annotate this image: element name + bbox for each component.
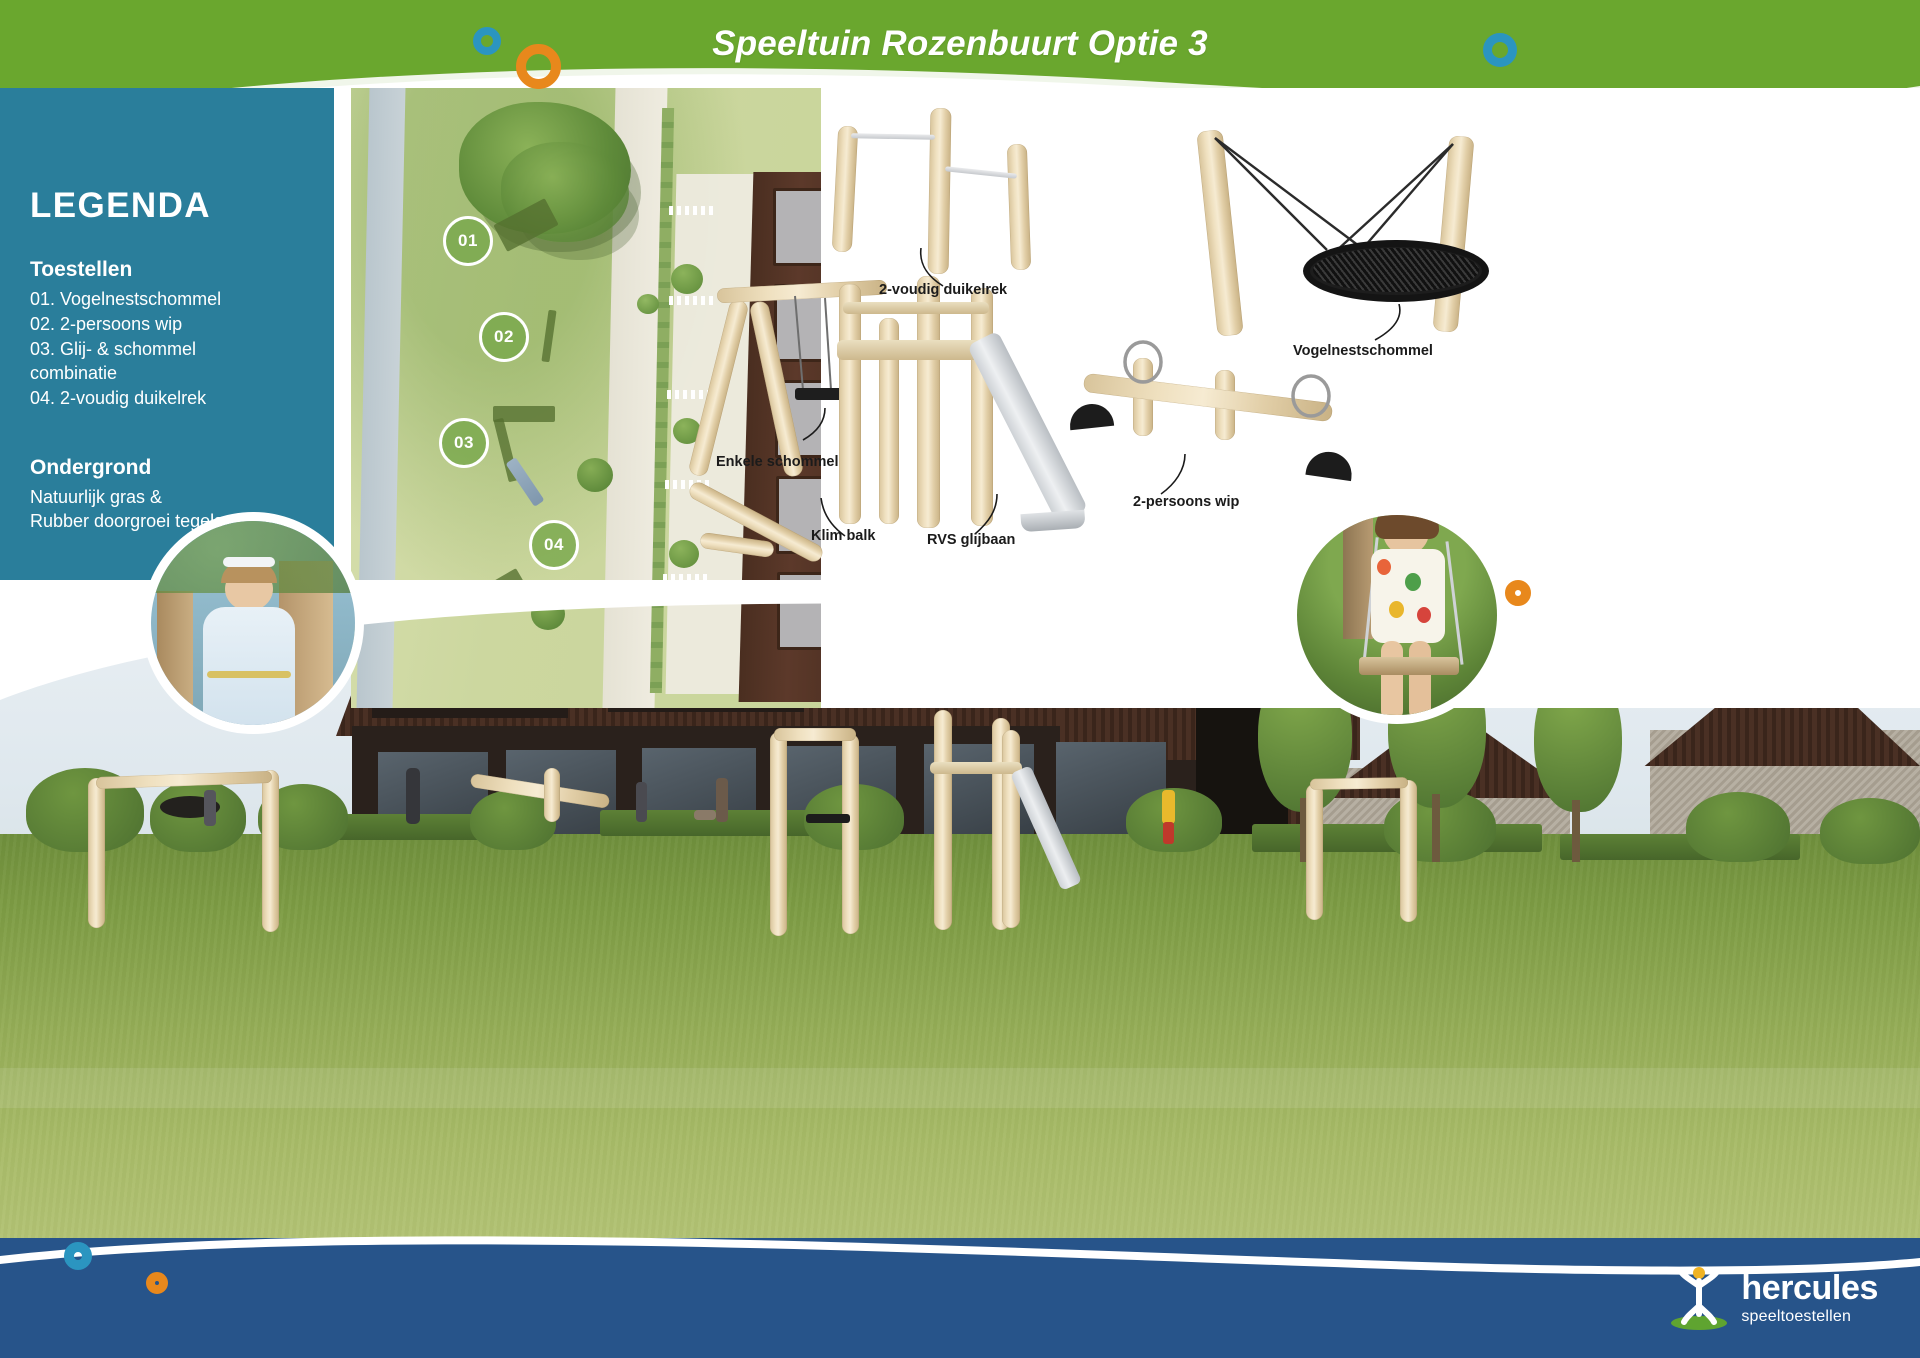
figure-child — [694, 810, 716, 820]
brand-tagline: speeltoestellen — [1741, 1309, 1878, 1325]
brand-name: hercules — [1741, 1271, 1878, 1305]
figure-child-yellow — [1162, 790, 1175, 824]
equipment-label-wip: 2-persoons wip — [1133, 494, 1239, 510]
bush — [1686, 792, 1790, 862]
photo-circle-right — [1288, 506, 1506, 724]
site-plan-shrub — [669, 540, 699, 568]
leader-line-wip — [1157, 454, 1193, 496]
render-deck — [930, 762, 1022, 774]
equipment-label-vogelnestschommel: Vogelnestschommel — [1293, 343, 1433, 359]
leader-line-enkele-schommel — [799, 408, 833, 444]
render-post — [934, 710, 952, 930]
photo-left-image — [151, 521, 355, 725]
render-post — [262, 770, 279, 932]
render-post — [1306, 784, 1323, 920]
deco-ring-orange-footer — [146, 1272, 168, 1294]
equipment-label-glijbaan: RVS glijbaan — [927, 532, 1015, 548]
deco-ring-orange-right — [1505, 580, 1531, 606]
wip-handle-right — [1285, 374, 1337, 428]
render-post — [770, 732, 787, 936]
legend-item: 04. 2-voudig duikelrek — [30, 386, 304, 411]
deco-ring-blue-footer — [64, 1242, 92, 1270]
legend-equipment-heading: Toestellen — [30, 257, 304, 283]
photo-circle-left — [142, 512, 364, 734]
site-plan-marker-02[interactable]: 02 — [479, 312, 529, 362]
site-plan-shrub — [577, 458, 613, 492]
hercules-figure-icon — [1669, 1266, 1729, 1330]
legend-equipment-list: 01. Vogelnestschommel 02. 2-persoons wip… — [30, 287, 304, 410]
render-post — [88, 778, 105, 928]
site-plan-marker-01[interactable]: 01 — [443, 216, 493, 266]
render-post — [774, 728, 856, 741]
site-plan-marker-03[interactable]: 03 — [439, 418, 489, 468]
deco-ring-blue-top-left — [473, 27, 501, 55]
render-post — [544, 768, 560, 822]
site-plan-shrub — [637, 294, 659, 314]
deco-ring-blue-top-right — [1483, 33, 1517, 67]
render-lawn-mow-band — [0, 1068, 1920, 1108]
footer-wave-divider — [0, 1222, 1920, 1292]
tree-trunk — [1572, 800, 1580, 862]
figure-child — [204, 790, 216, 826]
marker-label: 02 — [494, 327, 514, 347]
marker-label: 03 — [454, 433, 474, 453]
legend-spacer — [30, 411, 304, 455]
render-post — [842, 734, 859, 934]
slide-runout — [1020, 510, 1085, 532]
site-plan-fence — [669, 296, 715, 305]
poster-canvas: Speeltuin Rozenbuurt Optie 3 LEGENDA Toe… — [0, 0, 1920, 1358]
legend-surface-heading: Ondergrond — [30, 455, 304, 481]
render-swing-seat — [806, 814, 850, 823]
figure-child-yellow-legs — [1163, 822, 1174, 844]
legend-surface-line: Natuurlijk gras & — [30, 485, 304, 510]
figure-child — [716, 778, 728, 822]
page-title: Speeltuin Rozenbuurt Optie 3 — [0, 24, 1920, 64]
legend-heading: LEGENDA — [30, 188, 304, 223]
bush — [1820, 798, 1920, 864]
site-plan-marker-04[interactable]: 04 — [529, 520, 579, 570]
render-post — [1002, 730, 1020, 928]
marker-label: 01 — [458, 231, 478, 251]
legend-item: 03. Glij- & schommel — [30, 337, 304, 362]
wip-bumper-right — [1305, 449, 1354, 481]
equipment-label-klimbalk: Klim balk — [811, 528, 875, 544]
site-plan-window — [773, 188, 821, 266]
legend-item: combinatie — [30, 361, 304, 386]
site-plan-shrub — [671, 264, 703, 294]
figure-child — [636, 782, 647, 822]
equipment-label-enkele-schommel: Enkele schommel — [716, 454, 839, 470]
legend-item: 02. 2-persoons wip — [30, 312, 304, 337]
site-plan-fence — [669, 206, 715, 215]
tower-rail — [843, 302, 989, 314]
legend-content: LEGENDA Toestellen 01. Vogelnestschommel… — [0, 188, 334, 534]
tree-trunk — [1432, 794, 1440, 862]
legend-item: 01. Vogelnestschommel — [30, 287, 304, 312]
brand-logo: hercules speeltoestellen — [1669, 1266, 1878, 1330]
figure-adult — [406, 768, 420, 824]
deco-ring-orange-top — [516, 44, 561, 89]
equipment-label-duikelrek: 2-voudig duikelrek — [879, 282, 1007, 298]
wip-bumper-left — [1068, 402, 1114, 430]
render-post — [1400, 780, 1417, 922]
render-post — [1310, 777, 1408, 790]
photo-right-image — [1297, 515, 1497, 715]
brand-text: hercules speeltoestellen — [1741, 1271, 1878, 1325]
marker-label: 04 — [544, 535, 564, 555]
leader-line-glijbaan — [971, 494, 1005, 536]
nest-swing-mesh — [1313, 248, 1479, 292]
leader-line-vogelnest — [1369, 304, 1413, 344]
wip-handle-left — [1117, 340, 1169, 394]
